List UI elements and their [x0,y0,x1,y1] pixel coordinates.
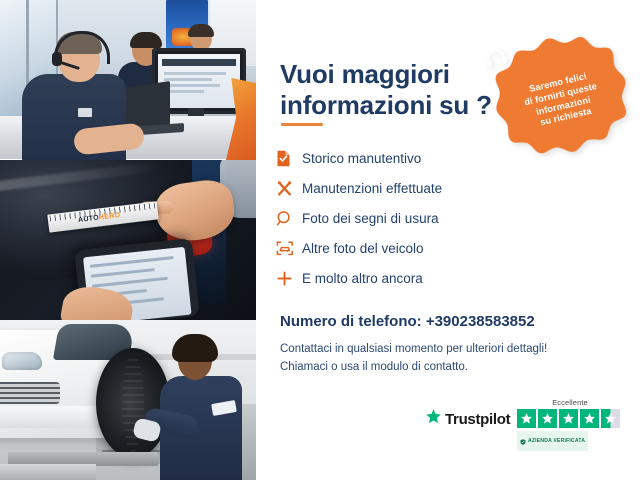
document-check-icon [276,150,302,167]
badge-text: Saremo felici di fornirti queste informa… [506,66,618,135]
verified-badge: AZIENDA VERIFICATA [517,431,588,451]
promo-banner: AUTOHERO [0,0,640,480]
feature-list: Storico manutentivo Manutenzioni effettu… [276,143,536,293]
feature-item-altre-foto-veicolo: Altre foto del veicolo [276,233,536,263]
foreground-agent [22,34,126,160]
star-rating [517,409,623,428]
tools-cross-icon [276,180,302,197]
feature-item-storico-manutentivo: Storico manutentivo [276,143,536,173]
magnifier-icon [276,210,302,227]
trustpilot-rating: Eccellente [517,398,623,451]
call-center-photo [0,0,256,160]
feature-item-foto-segni-usura: Foto dei segni di usura [276,203,536,233]
inspection-photo: AUTOHERO [0,160,256,320]
trustpilot-star-icon [425,408,442,430]
star-half [601,409,620,428]
verified-shield-icon [520,432,526,450]
rating-label: Eccellente [517,398,623,407]
star-filled [580,409,599,428]
star-filled [538,409,557,428]
contact-copy-line-1: Contattaci in qualsiasi momento per ulte… [280,343,547,355]
trustpilot-wordmark: Trustpilot [445,411,510,428]
feature-label: Storico manutentivo [302,151,421,166]
phone-number[interactable]: Numero di telefono: +390238583852 [280,313,535,330]
page-title: Vuoi maggioriinformazioni su ? [280,59,510,119]
lift-base [0,464,96,480]
mechanic [158,334,242,480]
photo-column: AUTOHERO [0,0,256,480]
contact-copy-line-2: Chiamaci o usa il modulo di contatto. [280,361,468,373]
star-filled [517,409,536,428]
feature-label: E molto altro ancora [302,271,423,286]
feature-item-molto-altro: E molto altro ancora [276,263,536,293]
trustpilot-logo[interactable]: Trustpilot [425,408,510,430]
plus-icon [276,270,302,287]
feature-item-manutenzioni-effettuate: Manutenzioni effettuate [276,173,536,203]
contact-copy: Contattaci in qualsiasi momento per ulte… [280,341,630,377]
heading-line-2: informazioni su ? [280,90,492,120]
feature-label: Foto dei segni di usura [302,211,439,226]
feature-label: Altre foto del veicolo [302,241,424,256]
trustpilot-widget[interactable]: Trustpilot Eccellente [425,398,625,444]
verified-label: AZIENDA VERIFICATA [528,438,585,444]
title-divider [281,123,323,126]
star-filled [559,409,578,428]
car-scan-icon [276,240,302,257]
workshop-photo [0,320,256,480]
feature-label: Manutenzioni effettuate [302,181,442,196]
heading-line-1: Vuoi maggiori [280,59,450,89]
